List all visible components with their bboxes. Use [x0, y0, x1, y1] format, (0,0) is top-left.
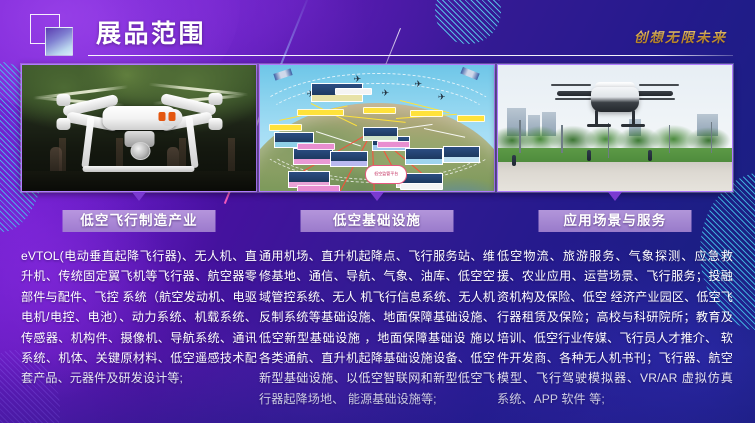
page-title: 展品范围 [96, 14, 206, 50]
column-heading-manufacturing: 低空飞行制造产业 [63, 210, 216, 232]
frame-pointer-manufacturing [132, 192, 146, 201]
photo-frame-manufacturing[interactable] [21, 64, 257, 192]
column-infrastructure: ✈ ✈ ✈ ✈ ✈ [259, 64, 495, 192]
photo-frame-applications[interactable] [497, 64, 733, 192]
column-heading-applications: 应用场景与服务 [539, 210, 692, 232]
quadcopter-drone-photo [22, 65, 256, 191]
header-divider [88, 55, 733, 56]
column-applications: 应用场景与服务 低空物流、旅游服务、气象探测、应急救援、农业应用、运营场景、飞行… [497, 64, 733, 192]
column-heading-infrastructure: 低空基础设施 [301, 210, 454, 232]
evtol-city-plaza-photo [498, 65, 732, 191]
bottom-glow [0, 353, 755, 423]
logo-mark [30, 14, 76, 58]
slide-header: 展品范围 创想无限未来 [0, 0, 755, 62]
gradient-square-icon [45, 27, 73, 56]
center-node-cloud: 低空监管平台 [365, 165, 407, 184]
airspace-network-diagram-photo: ✈ ✈ ✈ ✈ ✈ [260, 65, 494, 191]
frame-pointer-infrastructure [370, 192, 384, 201]
photo-frame-infrastructure[interactable]: ✈ ✈ ✈ ✈ ✈ [259, 64, 495, 192]
column-manufacturing: 低空飞行制造产业 eVTOL(电动垂直起降飞行器)、无人机、直升机、传统固定翼飞… [21, 64, 257, 192]
slogan-text: 创想无限未来 [634, 26, 727, 46]
frame-pointer-applications [608, 192, 622, 201]
slide-canvas: 展品范围 创想无限未来 [0, 0, 755, 423]
